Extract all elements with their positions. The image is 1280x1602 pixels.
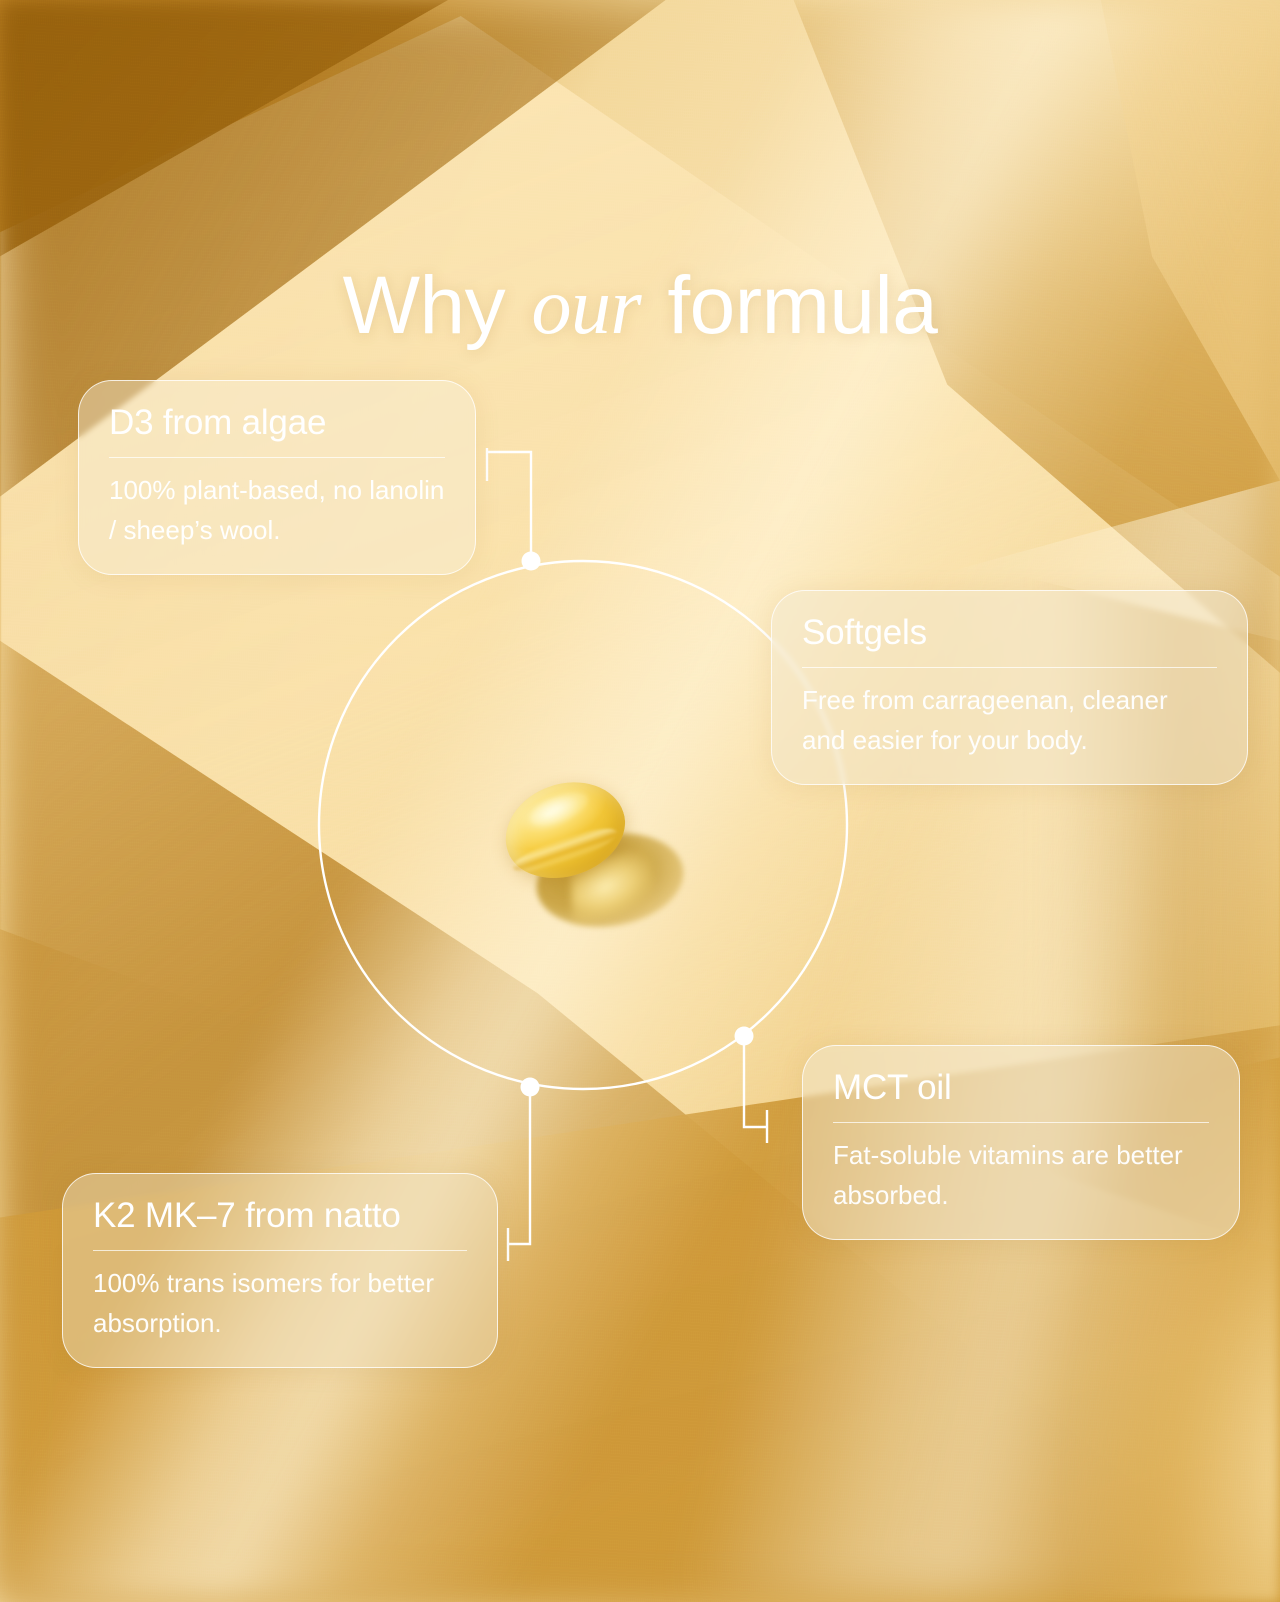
info-card-k2-body: 100% trans isomers for better absorption… <box>93 1264 467 1343</box>
page-title-emphasis: our <box>527 263 645 351</box>
info-card-mct[interactable]: MCT oil Fat-soluble vitamins are better … <box>802 1045 1240 1240</box>
info-card-k2-divider <box>93 1250 467 1251</box>
info-card-k2[interactable]: K2 MK–7 from natto 100% trans isomers fo… <box>62 1173 498 1368</box>
info-card-mct-title: MCT oil <box>833 1068 1209 1108</box>
page-title: Why our formula <box>0 263 1280 349</box>
info-card-softgels-title: Softgels <box>802 613 1217 653</box>
info-card-softgels[interactable]: Softgels Free from carrageenan, cleaner … <box>771 590 1248 785</box>
info-card-mct-body: Fat-soluble vitamins are better absorbed… <box>833 1136 1209 1215</box>
product-formula-infographic: Why our formula <box>0 0 1280 1602</box>
page-title-prefix: Why <box>343 260 506 351</box>
info-card-softgels-body: Free from carrageenan, cleaner and easie… <box>802 681 1217 760</box>
info-card-mct-divider <box>833 1122 1209 1123</box>
info-card-k2-title: K2 MK–7 from natto <box>93 1196 467 1236</box>
softgel-capsule <box>484 772 699 932</box>
info-card-d3-title: D3 from algae <box>109 403 445 443</box>
info-card-softgels-divider <box>802 667 1217 668</box>
page-title-suffix: formula <box>667 260 937 351</box>
info-card-d3-divider <box>109 457 445 458</box>
info-card-d3[interactable]: D3 from algae 100% plant-based, no lanol… <box>78 380 476 575</box>
info-card-d3-body: 100% plant-based, no lanolin / sheep’s w… <box>109 471 445 550</box>
